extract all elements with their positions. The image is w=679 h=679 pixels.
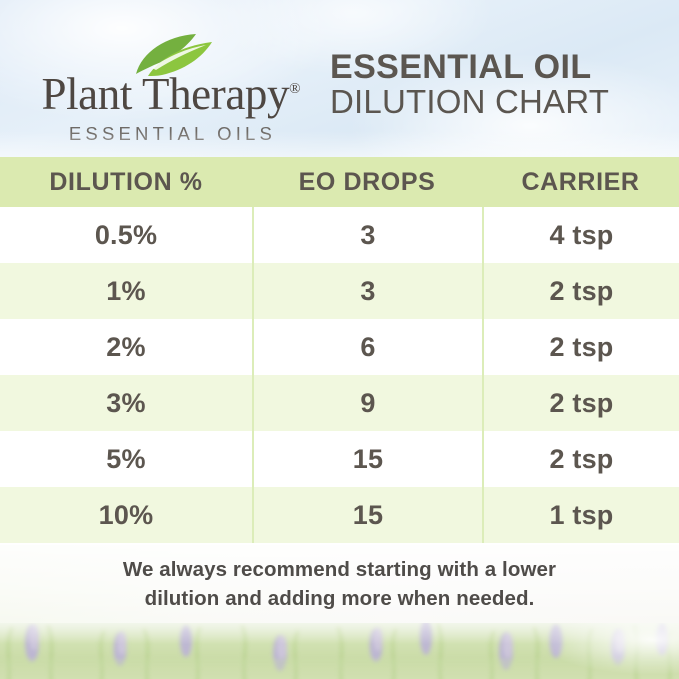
- table-header-row: DILUTION % EO DROPS CARRIER: [0, 157, 679, 207]
- table-row: 2% 6 2 tsp: [0, 319, 679, 375]
- table-row: 1% 3 2 tsp: [0, 263, 679, 319]
- cell-drops: 9: [252, 375, 482, 431]
- brand-tagline: ESSENTIAL OILS: [36, 123, 306, 145]
- cell-drops: 15: [252, 487, 482, 543]
- lavender-field-image: [0, 623, 679, 679]
- cell-carrier: 2 tsp: [482, 431, 679, 487]
- column-header-eo-drops: EO DROPS: [252, 157, 482, 207]
- table-row: 10% 15 1 tsp: [0, 487, 679, 543]
- title-line-2: DILUTION CHART: [330, 85, 650, 120]
- cell-drops: 15: [252, 431, 482, 487]
- dilution-table: DILUTION % EO DROPS CARRIER 0.5% 3 4 tsp…: [0, 157, 679, 545]
- cell-dilution: 3%: [0, 375, 252, 431]
- cell-drops: 3: [252, 263, 482, 319]
- dilution-chart-poster: Plant Therapy® ESSENTIAL OILS ESSENTIAL …: [0, 0, 679, 679]
- brand-wordmark-text: Plant Therapy: [41, 69, 289, 119]
- lavender-field-artwork: [0, 623, 679, 679]
- cell-dilution: 2%: [0, 319, 252, 375]
- cell-drops: 3: [252, 207, 482, 263]
- cell-carrier: 2 tsp: [482, 319, 679, 375]
- table-row: 5% 15 2 tsp: [0, 431, 679, 487]
- table-row: 0.5% 3 4 tsp: [0, 207, 679, 263]
- footer-line-2: dilution and adding more when needed.: [123, 584, 556, 613]
- title-line-1: ESSENTIAL OIL: [330, 50, 650, 85]
- cell-dilution: 10%: [0, 487, 252, 543]
- cell-carrier: 1 tsp: [482, 487, 679, 543]
- footer-line-1: We always recommend starting with a lowe…: [123, 555, 556, 584]
- cell-carrier: 2 tsp: [482, 263, 679, 319]
- header-banner: Plant Therapy® ESSENTIAL OILS ESSENTIAL …: [0, 0, 679, 157]
- cell-carrier: 4 tsp: [482, 207, 679, 263]
- brand-logo: Plant Therapy® ESSENTIAL OILS: [36, 34, 306, 145]
- column-header-dilution: DILUTION %: [0, 157, 252, 207]
- cell-carrier: 2 tsp: [482, 375, 679, 431]
- registered-mark: ®: [289, 81, 300, 97]
- column-header-carrier: CARRIER: [482, 157, 679, 207]
- page-title: ESSENTIAL OIL DILUTION CHART: [330, 50, 650, 120]
- cell-drops: 6: [252, 319, 482, 375]
- cell-dilution: 1%: [0, 263, 252, 319]
- cell-dilution: 5%: [0, 431, 252, 487]
- brand-wordmark: Plant Therapy®: [36, 72, 306, 117]
- table-row: 3% 9 2 tsp: [0, 375, 679, 431]
- footer-note: We always recommend starting with a lowe…: [0, 545, 679, 623]
- cell-dilution: 0.5%: [0, 207, 252, 263]
